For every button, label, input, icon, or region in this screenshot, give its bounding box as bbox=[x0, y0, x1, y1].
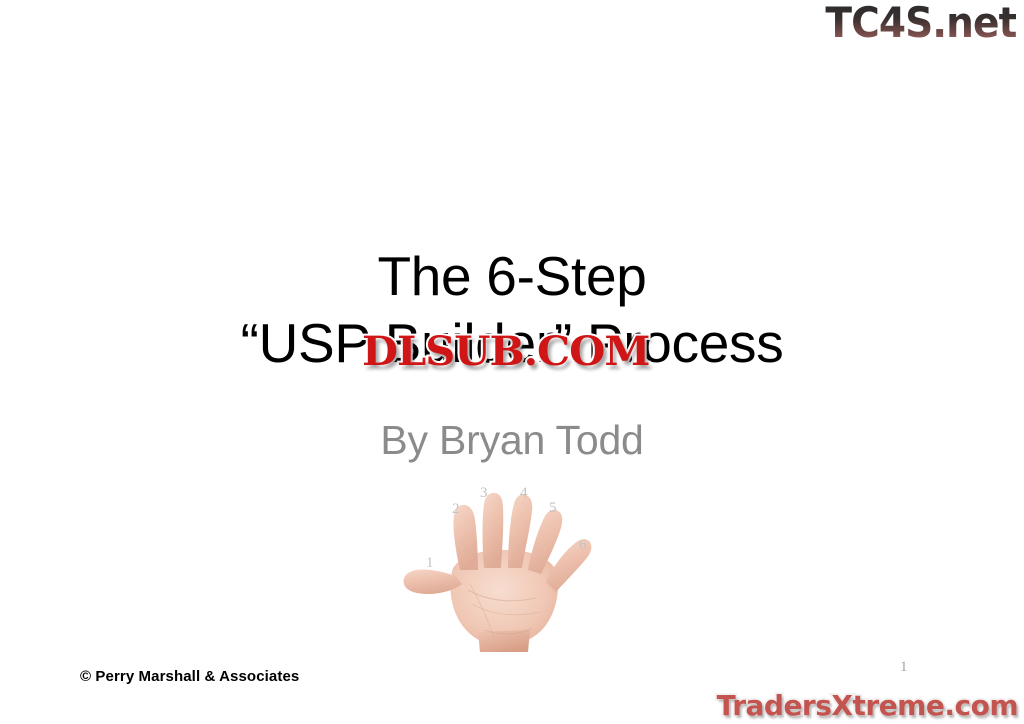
tradersxtreme-watermark: TradersXtreme.com bbox=[717, 692, 1018, 720]
six-fingered-hand-figure: 1 2 3 4 5 6 bbox=[398, 472, 613, 652]
dlsub-watermark: DLSUB.COM bbox=[362, 332, 649, 372]
copyright-notice: © Perry Marshall & Associates bbox=[80, 668, 299, 685]
finger-label-6: 6 bbox=[579, 538, 587, 553]
finger-label-3: 3 bbox=[480, 486, 488, 501]
finger-label-5: 5 bbox=[549, 501, 557, 516]
finger-label-1: 1 bbox=[426, 556, 434, 571]
title-line-1: The 6-Step bbox=[0, 243, 1024, 310]
slide-number: 1 bbox=[900, 659, 908, 676]
tc4s-watermark: TC4S.net bbox=[825, 2, 1016, 44]
subtitle-author: By Bryan Todd bbox=[0, 416, 1024, 464]
presentation-slide: TC4S.net The 6-Step “USP Builder” Proces… bbox=[0, 0, 1024, 724]
finger-label-2: 2 bbox=[452, 502, 460, 517]
finger-label-4: 4 bbox=[520, 486, 528, 501]
